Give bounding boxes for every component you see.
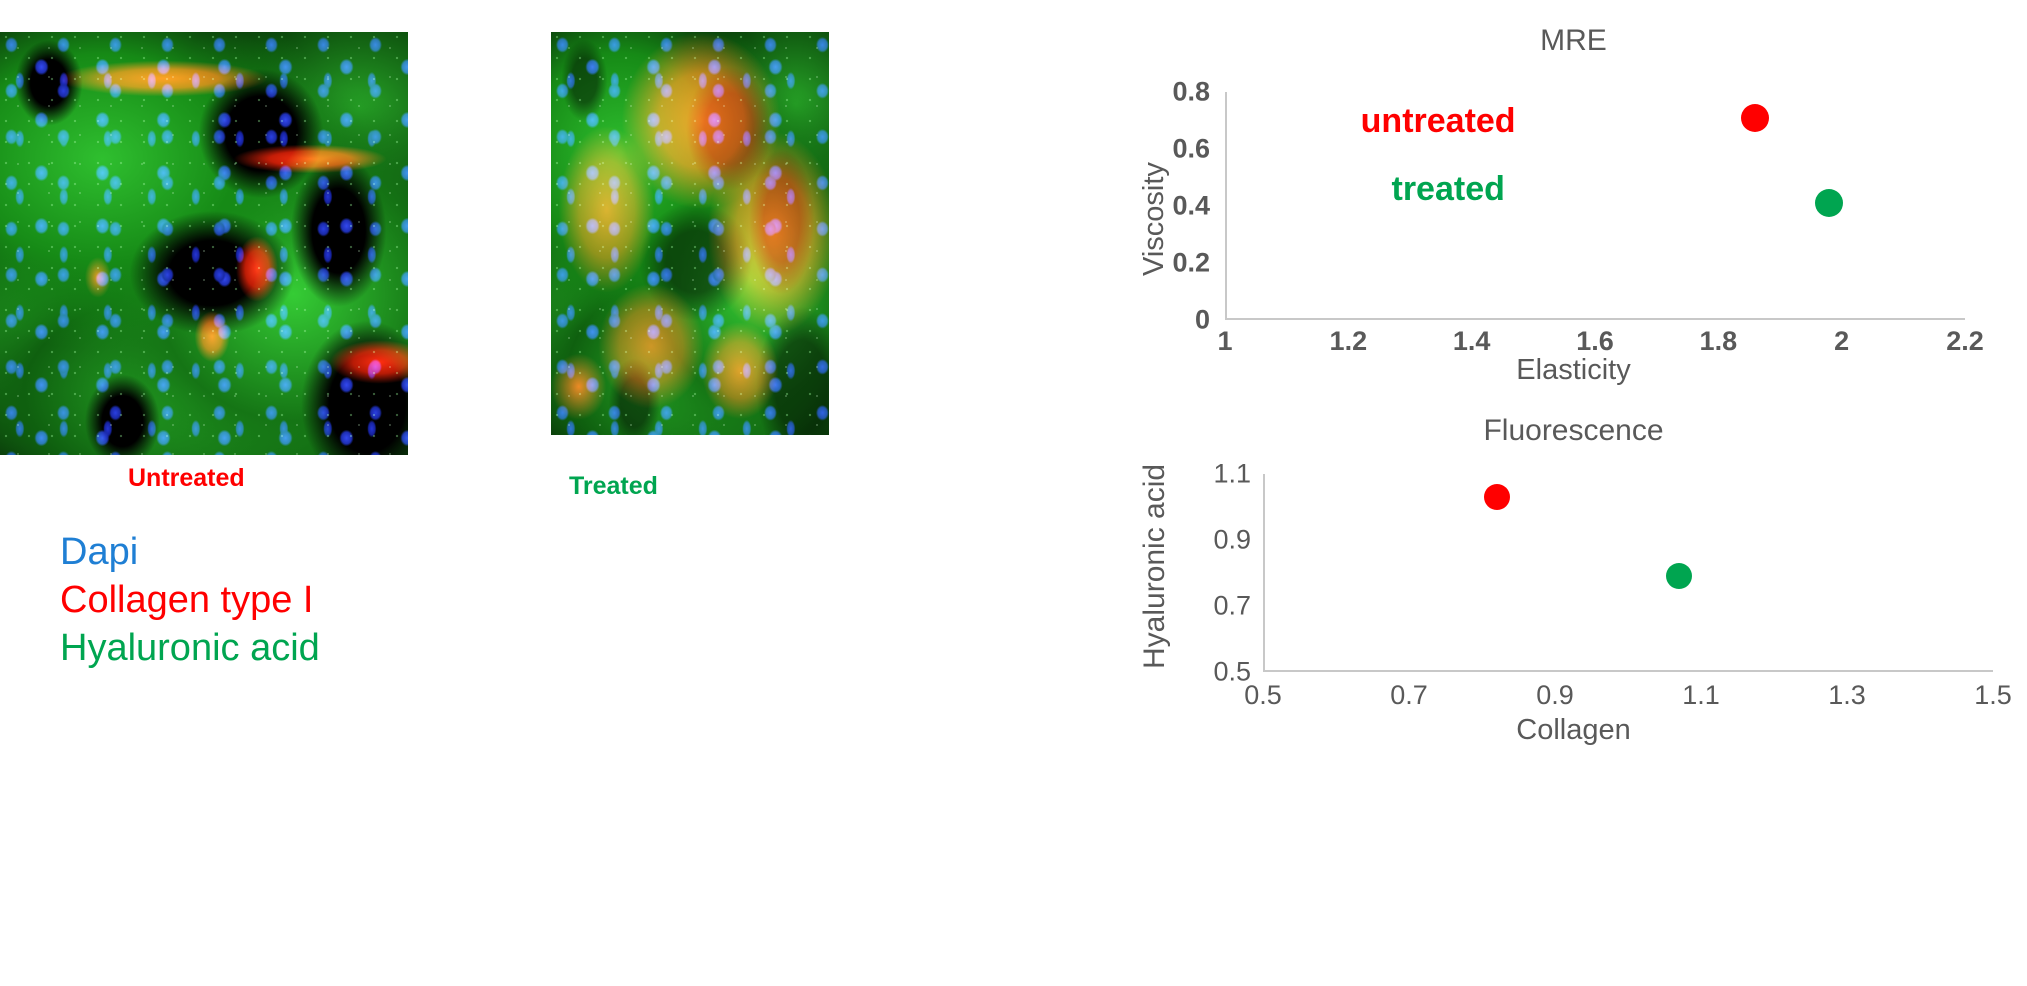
x-axis-tick-label: 1 [1217, 326, 1232, 357]
data-point-treated [1815, 189, 1843, 217]
caption-treated: Treated [569, 472, 658, 501]
micrograph-treated-canvas [551, 32, 829, 435]
chart-fluorescence-y-axis-title: Hyaluronic acid [1138, 464, 1172, 669]
chart-fluorescence-plot-area [1263, 474, 1993, 672]
x-axis-tick-label: 1.6 [1576, 326, 1614, 357]
data-point-untreated [1741, 104, 1769, 132]
y-axis-tick-label: 0.4 [1130, 191, 1210, 222]
micrograph-treated [551, 32, 829, 435]
speckle-layer [0, 32, 408, 455]
legend-item-hyaluronic-acid: Hyaluronic acid [60, 624, 320, 672]
chart-fluorescence-x-axis-title: Collagen [1120, 714, 2027, 747]
chart-fluorescence: Fluorescence Hyaluronic acid Collagen 0.… [1120, 414, 2027, 974]
chart-mre-title: MRE [1120, 24, 2027, 58]
y-axis-tick-label: 0.5 [1165, 657, 1251, 688]
data-point-treated [1666, 563, 1692, 589]
x-axis-tick-label: 0.9 [1536, 680, 1574, 711]
x-axis-tick-label: 2.2 [1946, 326, 1984, 357]
x-axis-tick-label: 0.7 [1390, 680, 1428, 711]
x-axis-tick-label: 0.5 [1244, 680, 1282, 711]
chart-mre-x-axis-title: Elasticity [1120, 354, 2027, 387]
x-axis-tick-label: 2 [1834, 326, 1849, 357]
legend-item-collagen-type-i: Collagen type I [60, 576, 320, 624]
chart-mre-plot-area [1225, 92, 1965, 320]
channel-legend: Dapi Collagen type I Hyaluronic acid [60, 528, 320, 672]
y-axis-tick-label: 0 [1130, 305, 1210, 336]
series-annotation-treated: treated [1392, 170, 1505, 209]
y-axis-tick-label: 0.8 [1130, 77, 1210, 108]
x-axis-tick-label: 1.4 [1453, 326, 1491, 357]
x-axis-tick-label: 1.5 [1974, 680, 2012, 711]
x-axis-tick-label: 1.3 [1828, 680, 1866, 711]
x-axis-tick-label: 1.8 [1700, 326, 1738, 357]
y-axis-tick-label: 0.6 [1130, 134, 1210, 165]
series-annotation-untreated: untreated [1361, 102, 1516, 141]
chart-mre: MRE Viscosity Elasticity 00.20.40.60.811… [1120, 24, 2027, 414]
x-axis-tick-label: 1.2 [1330, 326, 1368, 357]
data-point-untreated [1484, 484, 1510, 510]
y-axis-tick-label: 0.7 [1165, 591, 1251, 622]
chart-fluorescence-title: Fluorescence [1120, 414, 2027, 448]
speckle-layer [551, 32, 829, 435]
micrograph-untreated [0, 32, 408, 455]
legend-item-dapi: Dapi [60, 528, 320, 576]
x-axis-tick-label: 1.1 [1682, 680, 1720, 711]
caption-untreated: Untreated [128, 464, 245, 493]
y-axis-tick-label: 0.9 [1165, 525, 1251, 556]
micrograph-untreated-canvas [0, 32, 408, 455]
y-axis-tick-label: 1.1 [1165, 459, 1251, 490]
y-axis-tick-label: 0.2 [1130, 248, 1210, 279]
